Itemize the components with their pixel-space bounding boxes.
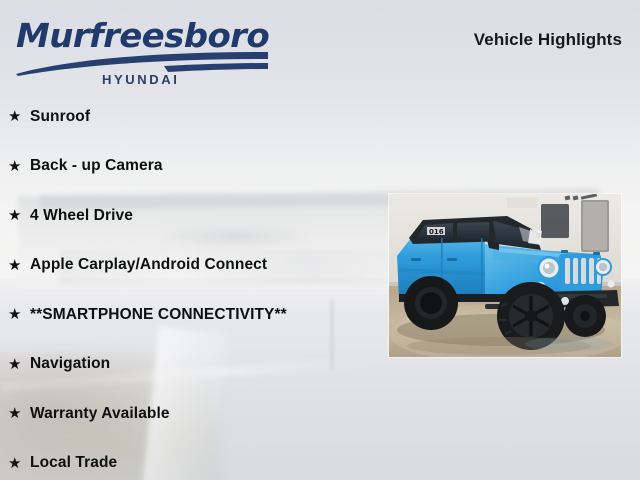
vehicle-highlights-list: ★ Sunroof ★ Back - up Camera ★ 4 Wheel D… bbox=[8, 92, 388, 480]
highlight-label: Navigation bbox=[30, 355, 110, 373]
list-item: ★ Warranty Available bbox=[8, 389, 388, 439]
vehicle-highlights-slide: Murfreesboro HYUNDAI Vehicle Highlights … bbox=[0, 0, 640, 480]
svg-text:016: 016 bbox=[429, 228, 444, 236]
highlight-label: Warranty Available bbox=[30, 405, 170, 423]
vehicle-photo-image: 016 bbox=[389, 194, 621, 357]
dealer-name-text: Murfreesboro bbox=[16, 16, 269, 55]
star-icon: ★ bbox=[8, 109, 30, 124]
highlight-label: Sunroof bbox=[30, 108, 90, 126]
list-item: ★ Back - up Camera bbox=[8, 142, 388, 192]
list-item: ★ Navigation bbox=[8, 340, 388, 390]
star-icon: ★ bbox=[8, 159, 30, 174]
star-icon: ★ bbox=[8, 258, 30, 273]
star-icon: ★ bbox=[8, 208, 30, 223]
highlight-label: Apple Carplay/Android Connect bbox=[30, 256, 267, 274]
highlight-label: 4 Wheel Drive bbox=[30, 207, 133, 225]
list-item: ★ Sunroof bbox=[8, 92, 388, 142]
page-title: Vehicle Highlights bbox=[474, 30, 622, 50]
list-item: ★ Apple Carplay/Android Connect bbox=[8, 241, 388, 291]
star-icon: ★ bbox=[8, 406, 30, 421]
vehicle-photo[interactable]: 016 bbox=[389, 194, 621, 357]
list-item: ★ 4 Wheel Drive bbox=[8, 191, 388, 241]
star-icon: ★ bbox=[8, 456, 30, 471]
list-item: ★ **SMARTPHONE CONNECTIVITY** bbox=[8, 290, 388, 340]
star-icon: ★ bbox=[8, 357, 30, 372]
highlight-label: Back - up Camera bbox=[30, 157, 163, 175]
list-item: ★ Local Trade bbox=[8, 439, 388, 480]
star-icon: ★ bbox=[8, 307, 30, 322]
highlight-label: **SMARTPHONE CONNECTIVITY** bbox=[30, 306, 287, 324]
highlight-label: Local Trade bbox=[30, 454, 117, 472]
dealer-logo[interactable]: Murfreesboro HYUNDAI bbox=[14, 16, 270, 84]
brand-name-text: HYUNDAI bbox=[102, 72, 179, 87]
